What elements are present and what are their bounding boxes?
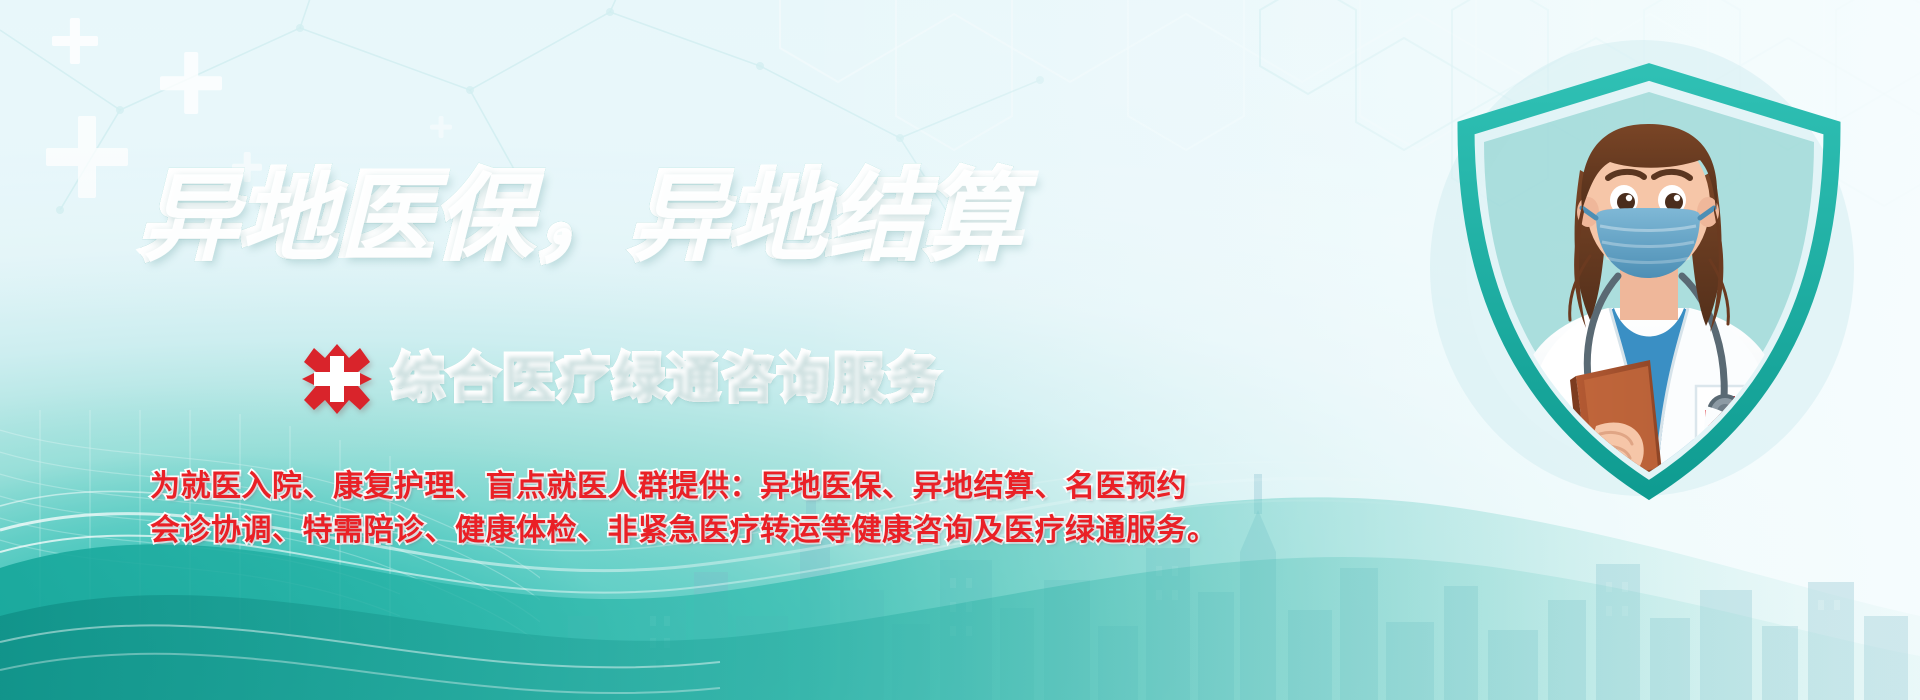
banner-copy: 异地医保，异地结算 综合医疗绿通咨询服务 为就医入院、康复护理、盲点就医人群提供… <box>0 0 1180 700</box>
service-description: 为就医入院、康复护理、盲点就医人群提供：异地医保、异地结算、名医预约 会诊协调、… <box>150 468 1070 556</box>
description-line-2: 会诊协调、特需陪诊、健康体检、非紧急医疗转运等健康咨询及医疗绿通服务。 <box>150 512 1070 549</box>
page-title: 异地医保，异地结算 <box>140 168 1022 264</box>
description-line-1: 为就医入院、康复护理、盲点就医人群提供：异地医保、异地结算、名医预约 <box>150 468 1070 505</box>
subtitle: 综合医疗绿通咨询服务 <box>392 353 942 405</box>
medical-service-banner: 异地医保，异地结算 综合医疗绿通咨询服务 为就医入院、康复护理、盲点就医人群提供… <box>0 0 1920 700</box>
red-cross-badge-icon <box>300 342 374 416</box>
doctor-shield-illustration <box>1414 20 1884 540</box>
doctor-hand-pocket <box>1720 485 1762 520</box>
subtitle-row: 综合医疗绿通咨询服务 <box>300 342 942 416</box>
